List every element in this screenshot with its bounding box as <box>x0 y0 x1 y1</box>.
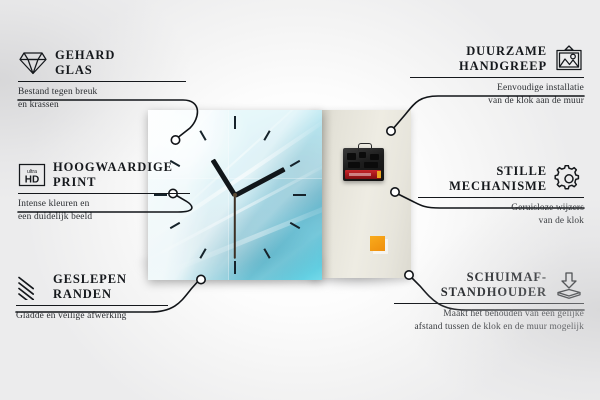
feature-duurzame-handgreep: DUURZAME HANDGREEP Eenvoudige installati… <box>410 44 584 107</box>
feature-title: STILLE MECHANISME <box>449 164 547 194</box>
ultra-hd-icon: ultra HD <box>18 162 46 188</box>
feature-header: SCHUIMAF- STANDHOUDER <box>394 270 584 300</box>
feature-schuimaf-standhouder: SCHUIMAF- STANDHOUDER Maakt het behouden… <box>394 270 584 333</box>
feature-header: GESLEPEN RANDEN <box>16 272 168 302</box>
svg-text:HD: HD <box>25 174 39 185</box>
feature-hoogwaardige-print: ultra HD HOOGWAARDIGE PRINT Intense kleu… <box>18 160 190 223</box>
feature-rule <box>16 305 168 307</box>
foam-spacer-pad <box>370 236 385 251</box>
feature-header: STILLE MECHANISME <box>418 164 584 194</box>
feature-header: DUURZAME HANDGREEP <box>410 44 584 74</box>
feature-geslepen-randen: GESLEPEN RANDEN Gladde en veilige afwerk… <box>16 272 168 323</box>
feature-description: Bestand tegen breuk en krassen <box>18 86 186 111</box>
hour-tick-12 <box>234 116 236 129</box>
spacer-press-icon <box>554 271 584 299</box>
feature-description: Gladde en veilige afwerking <box>16 310 168 323</box>
infographic-canvas: GEHARD GLAS Bestand tegen breuk en krass… <box>0 0 600 400</box>
feature-title: DUURZAME HANDGREEP <box>459 44 547 74</box>
feature-rule <box>18 81 186 83</box>
beveled-edges-icon <box>16 274 46 300</box>
clock-mechanism <box>343 148 384 181</box>
feature-header: ultra HD HOOGWAARDIGE PRINT <box>18 160 190 190</box>
battery-terminal <box>377 171 381 178</box>
feature-title: SCHUIMAF- STANDHOUDER <box>441 270 547 300</box>
battery-label <box>349 173 371 176</box>
feature-description: Intense kleuren en een duidelijk beeld <box>18 198 190 223</box>
mechanism-detail <box>348 162 360 168</box>
feature-rule <box>418 197 584 199</box>
feature-stille-mechanisme: STILLE MECHANISME Geruisloze wijzers van… <box>418 164 584 227</box>
mechanism-detail <box>347 153 356 160</box>
mechanism-detail <box>370 154 379 160</box>
hour-tick-6 <box>234 261 236 274</box>
feature-gehard-glas: GEHARD GLAS Bestand tegen breuk en krass… <box>18 48 186 111</box>
feature-header: GEHARD GLAS <box>18 48 186 78</box>
feature-title: GEHARD GLAS <box>55 48 115 78</box>
mechanism-hanger <box>358 143 372 151</box>
feature-rule <box>394 303 584 305</box>
feature-rule <box>410 77 584 79</box>
diamond-icon <box>18 50 48 76</box>
feature-description: Geruisloze wijzers van de klok <box>418 202 584 227</box>
gear-icon <box>554 165 584 193</box>
mechanism-detail <box>359 152 366 158</box>
picture-frame-icon <box>554 45 584 73</box>
feature-description: Eenvoudige installatie van de klok aan d… <box>410 82 584 107</box>
feature-description: Maakt het behouden van een gelijke afsta… <box>394 308 584 333</box>
clock-hub <box>233 193 237 197</box>
hour-tick-3 <box>293 194 306 196</box>
feature-title: GESLEPEN RANDEN <box>53 272 127 302</box>
second-hand <box>234 195 236 259</box>
mechanism-detail <box>364 162 378 168</box>
feature-rule <box>18 193 190 195</box>
feature-title: HOOGWAARDIGE PRINT <box>53 160 173 190</box>
battery <box>345 170 381 179</box>
